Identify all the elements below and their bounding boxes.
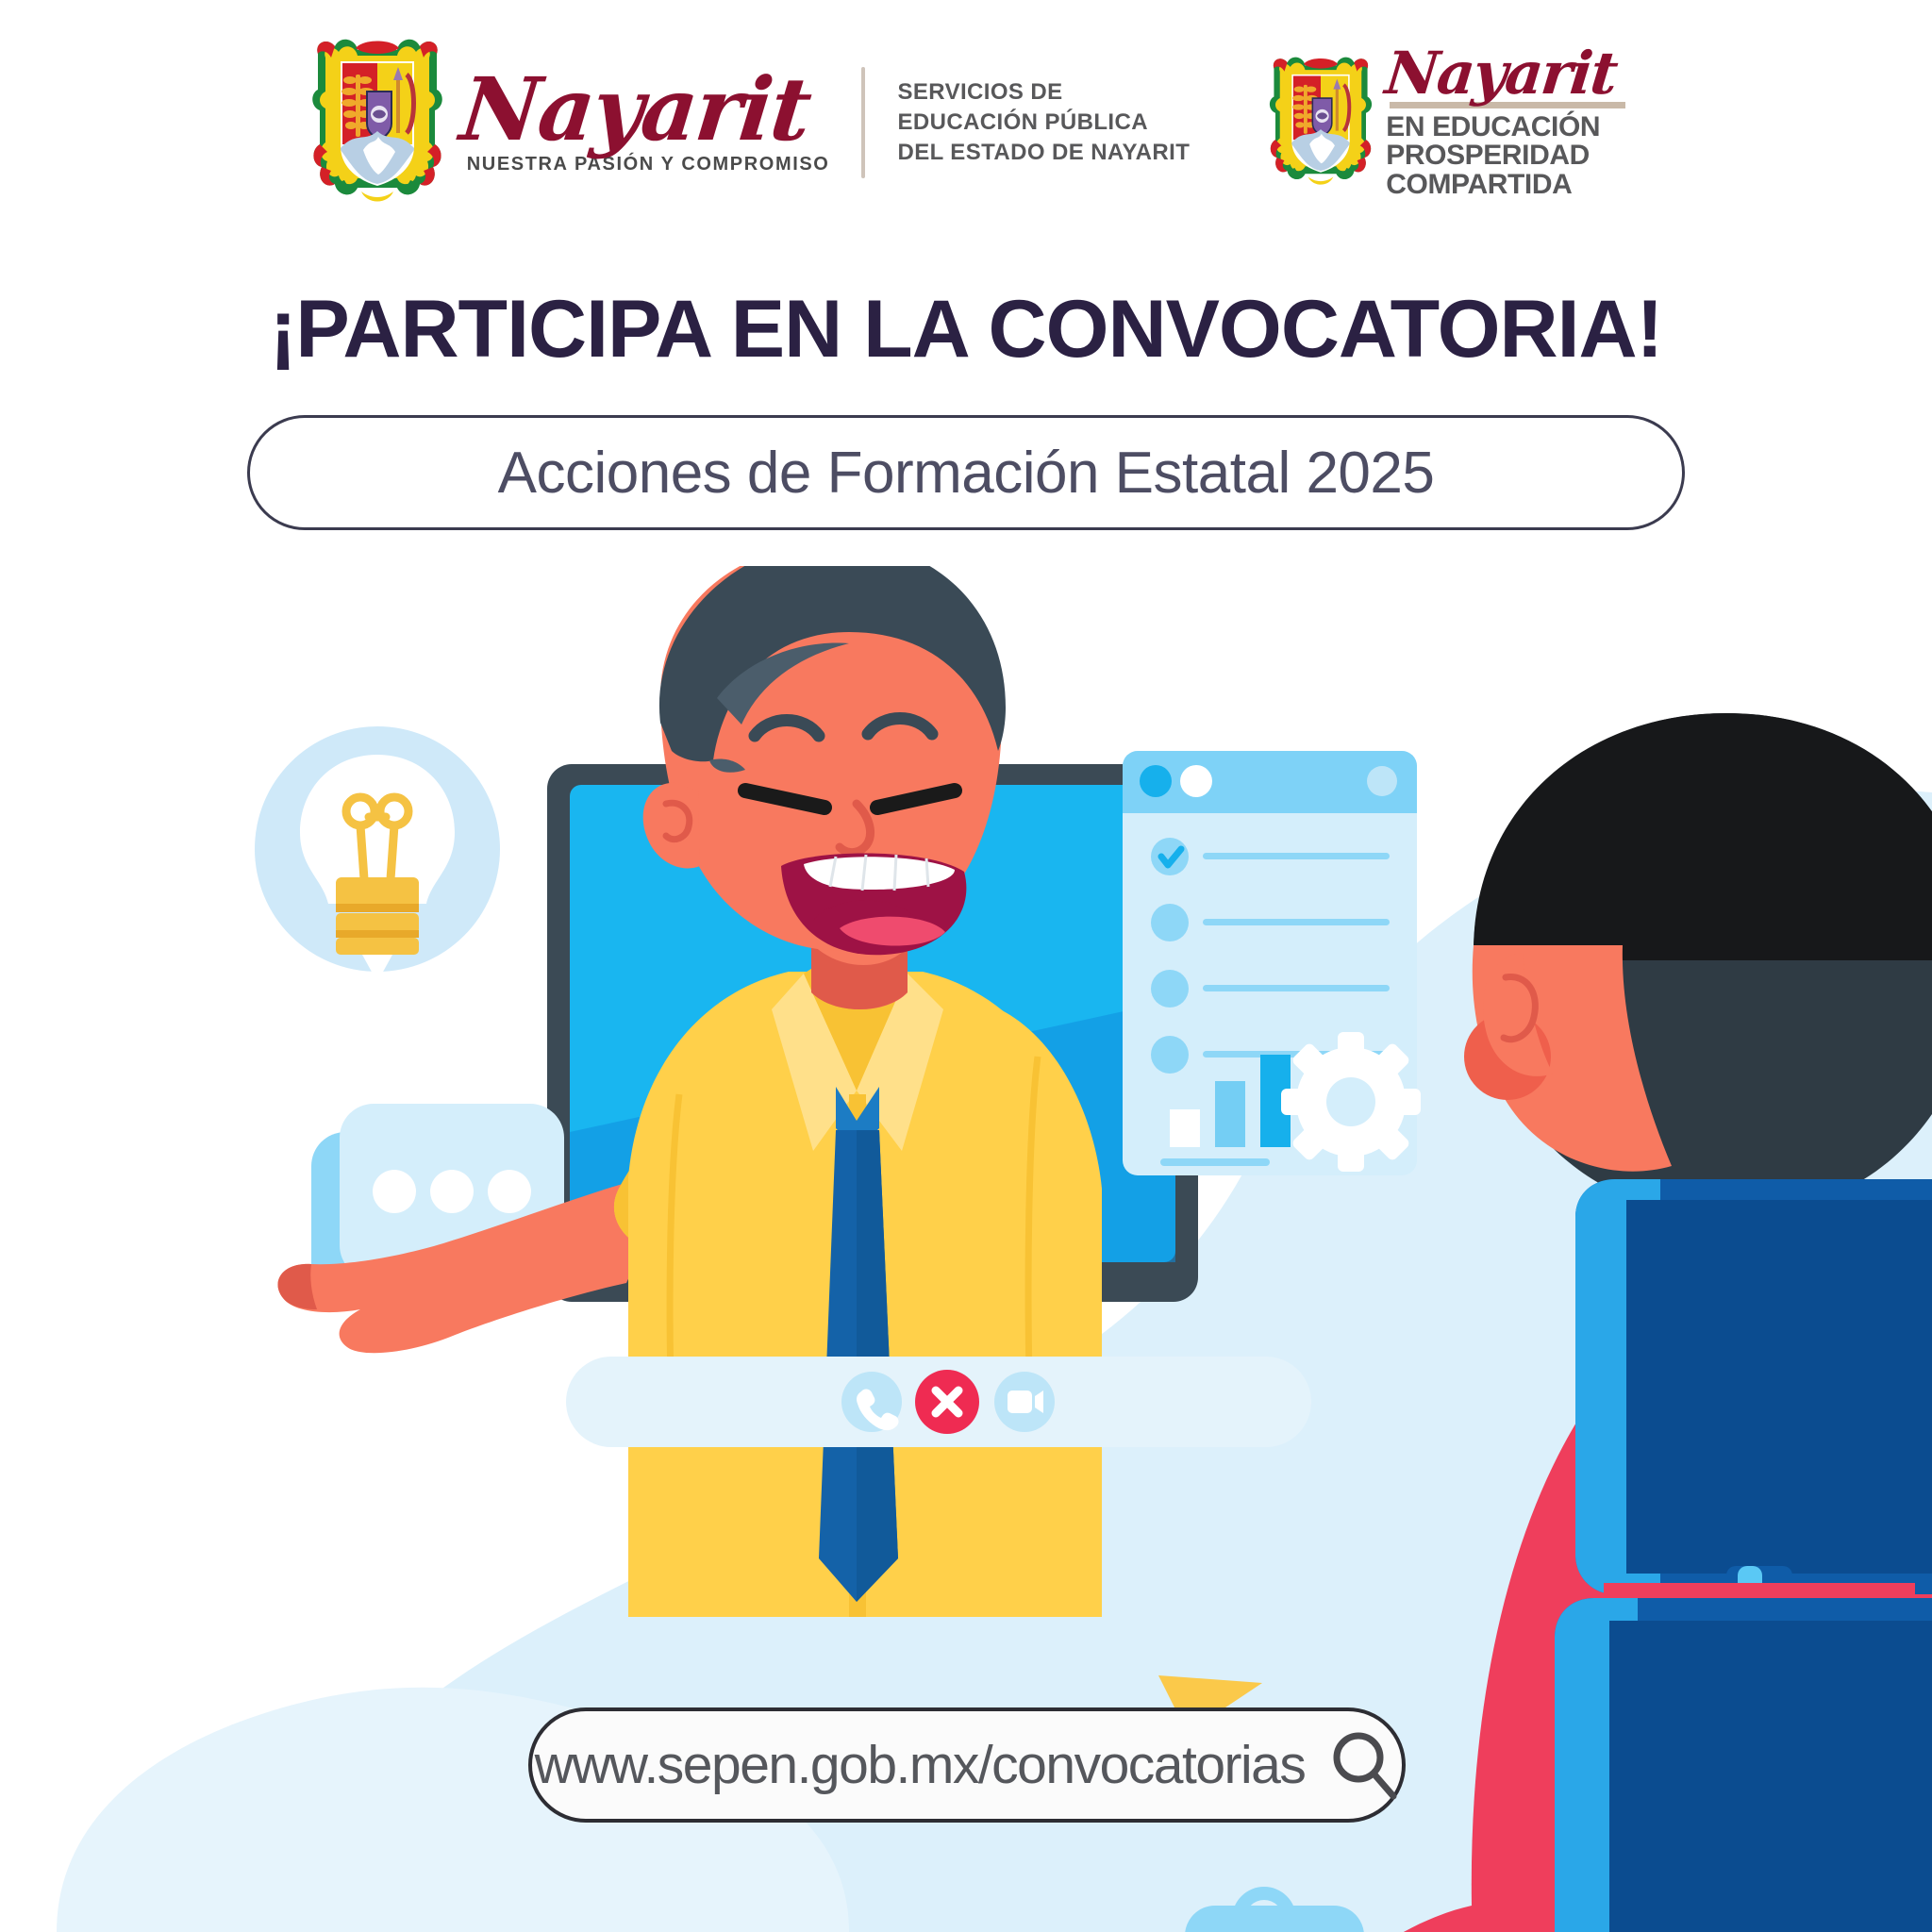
website-url-text: www.sepen.gob.mx/convocatorias <box>535 1734 1306 1796</box>
secondary-line-3: COMPARTIDA <box>1386 171 1572 200</box>
institution-line-3: DEL ESTADO DE NAYARIT <box>897 138 1190 168</box>
lightbulb-idea-badge <box>255 726 500 974</box>
secondary-line-1: EN EDUCACIÓN <box>1386 113 1600 142</box>
subtitle-pill: Acciones de Formación Estatal 2025 <box>247 415 1685 530</box>
presenter-character <box>278 566 1102 1617</box>
nayarit-coat-of-arms-icon <box>307 33 448 212</box>
viewer-hair <box>1474 713 1932 960</box>
video-call-controls <box>566 1357 1311 1447</box>
typing-dot-2 <box>430 1170 474 1213</box>
institution-line-2: EDUCACIÓN PÚBLICA <box>897 108 1190 138</box>
vertical-divider <box>861 67 865 178</box>
institution-line-1: SERVICIOS DE <box>897 77 1190 108</box>
panel-dot-1 <box>1140 765 1172 797</box>
website-url-bar[interactable]: www.sepen.gob.mx/convocatorias <box>528 1707 1406 1823</box>
nayarit-wordmark-secondary: Nayarit <box>1383 46 1619 100</box>
subtitle-text: Acciones de Formación Estatal 2025 <box>498 440 1435 507</box>
checklist-chart-panel <box>1123 751 1421 1175</box>
header: Nayarit NUESTRA PASIÓN Y COMPROMISO SERV… <box>0 28 1932 217</box>
panel-dot-2 <box>1180 765 1212 797</box>
magnifier-icon[interactable] <box>1329 1730 1399 1800</box>
primary-wordmark-block: Nayarit NUESTRA PASIÓN Y COMPROMISO <box>461 70 830 175</box>
panel-dot-3 <box>1367 766 1397 796</box>
institution-name: SERVICIOS DE EDUCACIÓN PÚBLICA DEL ESTAD… <box>897 77 1190 167</box>
typing-dot-1 <box>373 1170 416 1213</box>
secondary-wordmark-block: Nayarit EN EDUCACIÓN PROSPERIDAD COMPART… <box>1386 46 1625 200</box>
nayarit-coat-of-arms-icon-secondary <box>1265 52 1376 193</box>
page-title: ¡PARTICIPA EN LA CONVOCATORIA! <box>0 283 1932 376</box>
secondary-line-2: PROSPERIDAD <box>1386 142 1590 171</box>
nayarit-wordmark: Nayarit <box>457 70 813 150</box>
gear-icon <box>1281 1032 1421 1172</box>
typing-dot-3 <box>488 1170 531 1213</box>
